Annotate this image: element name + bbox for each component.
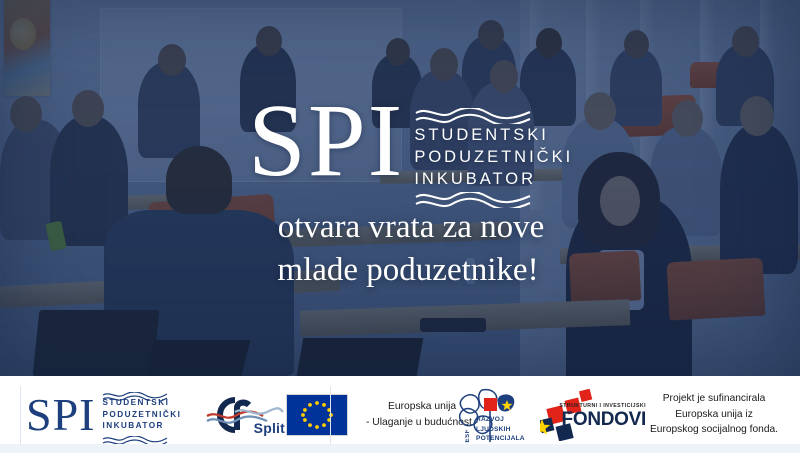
footer-divider <box>20 386 21 444</box>
cr-monogram-icon: Split <box>205 392 285 438</box>
funding-note-line-3: Europskog socijalnog fonda. <box>650 422 778 438</box>
footer-crsplit-logo: Split <box>205 376 285 453</box>
spi-acronym: SPI <box>248 96 404 185</box>
footer-logo-bar: SPI STUDENTSKI PODUZETNIČKI INKUBATOR <box>0 376 800 453</box>
footer-spi-word-1: STUDENTSKI <box>102 397 181 409</box>
funding-note-line-2: Europska unija iz <box>650 407 778 423</box>
funding-note-line-1: Projekt je sufinancirala <box>650 391 778 407</box>
esf-caption: RAZVOJ LJUDSKIH POTENCIJALA <box>476 415 525 443</box>
wave-lines-icon <box>102 432 168 441</box>
footer-eu-block: Europska unija - Ulaganje u budućnost - <box>286 376 478 453</box>
esf-caption-line-3: POTENCIJALA <box>476 434 525 443</box>
esf-caption-line-2: LJUDSKIH <box>476 425 525 434</box>
spi-word-1: STUDENTSKI <box>414 124 573 146</box>
spi-word-3: INKUBATOR <box>414 168 573 190</box>
footer-funding-note: Projekt je sufinancirala Europska unija … <box>630 376 798 453</box>
hero-banner: SPI STUDENTSKI PODUZETNIČKI INKUBATOR <box>0 0 800 376</box>
footer-bottom-strip <box>0 444 800 453</box>
spi-logo-right: STUDENTSKI PODUZETNIČKI INKUBATOR <box>414 108 573 208</box>
footer-esf-logo: ESF RAZVOJ LJUDSKIH POTENCIJALA <box>452 376 538 453</box>
footer-spi-words: STUDENTSKI PODUZETNIČKI INKUBATOR <box>102 388 181 442</box>
crsplit-label: Split <box>254 420 285 436</box>
footer-spi-word-3: INKUBATOR <box>102 420 181 432</box>
esf-vertical-label: ESF <box>465 429 471 442</box>
tagline-line-2: mlade poduzetnike! <box>0 249 800 292</box>
footer-spi-logo: SPI STUDENTSKI PODUZETNIČKI INKUBATOR <box>26 376 181 453</box>
footer-divider <box>330 386 331 444</box>
eu-flag-icon <box>286 394 348 436</box>
tagline-line-1: otvara vrata za nove <box>0 206 800 249</box>
esf-caption-line-1: RAZVOJ <box>476 415 525 424</box>
spi-logo-lockup: SPI STUDENTSKI PODUZETNIČKI INKUBATOR <box>248 96 573 208</box>
footer-spi-word-2: PODUZETNIČKI <box>102 409 181 421</box>
poster-root: SPI STUDENTSKI PODUZETNIČKI INKUBATOR <box>0 0 800 453</box>
wave-lines-icon <box>102 388 168 397</box>
spi-word-2: PODUZETNIČKI <box>414 146 573 168</box>
hero-tagline: otvara vrata za nove mlade poduzetnike! <box>0 206 800 292</box>
footer-spi-acronym: SPI <box>26 392 95 438</box>
esf-flower-icon: ESF RAZVOJ LJUDSKIH POTENCIJALA <box>452 386 538 444</box>
wave-lines-icon <box>414 108 532 124</box>
